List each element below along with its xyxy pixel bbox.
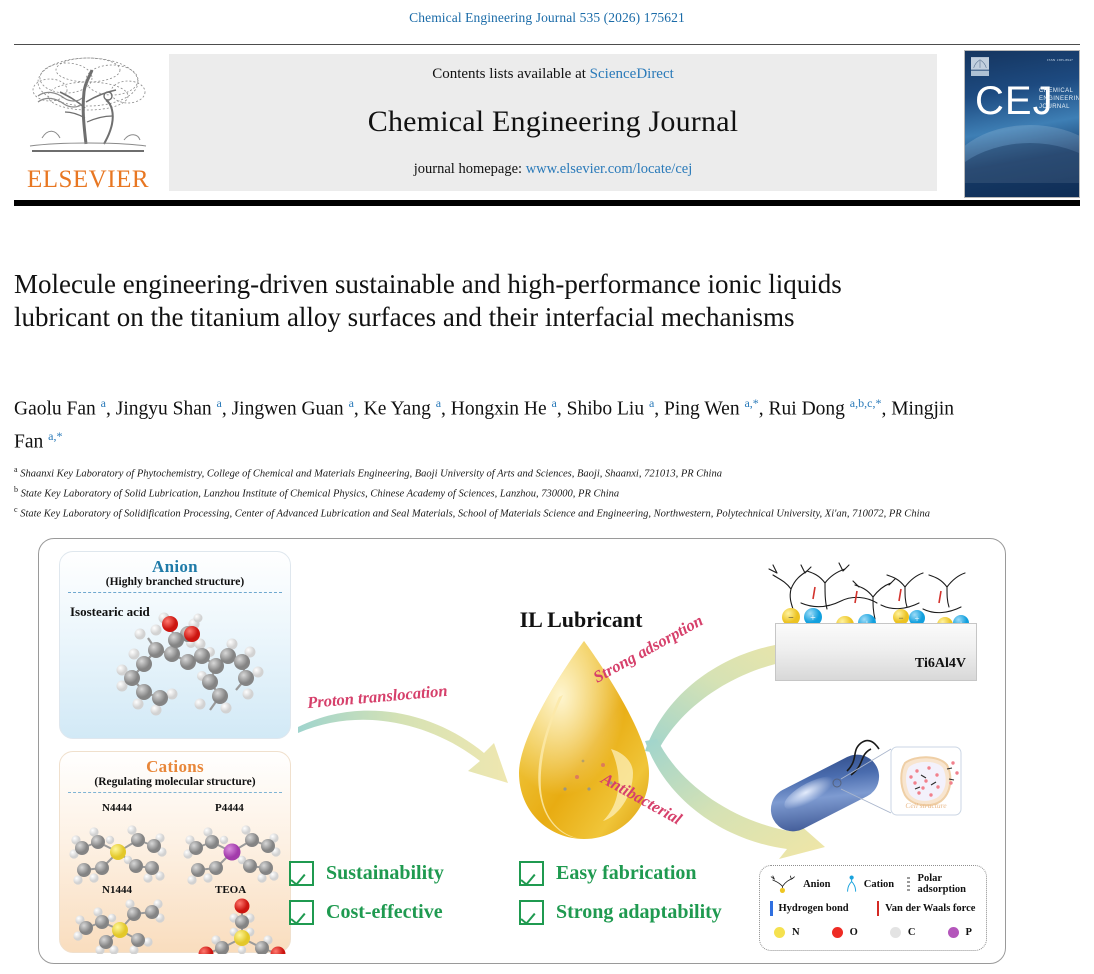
anion-subheading: (Highly branched structure) [60, 576, 290, 588]
feature-item-easy-fabrication: Easy fabrication [519, 861, 749, 886]
anion-glyph-icon [768, 873, 800, 895]
author-affiliation-mark: a [649, 396, 654, 410]
elsevier-wordmark: ELSEVIER [27, 166, 149, 194]
cation-molecules-icon [60, 814, 292, 954]
legend-polar-adsorption-label: Polar adsorption [918, 873, 978, 895]
legend-atom-p: P [948, 927, 972, 938]
contents-prefix: Contents lists available at [432, 66, 589, 82]
affiliation-mark: b [14, 485, 18, 494]
cover-word-journal: JOURNAL [1039, 103, 1080, 111]
feature-item-strong-adaptability: Strong adaptability [519, 900, 749, 925]
author-name: Ke Yang [364, 399, 436, 420]
feature-label: Sustainability [326, 862, 444, 885]
author-affiliation-mark: a [101, 396, 106, 410]
cover-word-chemical: CHEMICAL [1039, 87, 1080, 95]
il-lubricant-title: IL Lubricant [471, 607, 691, 633]
anion-panel: Anion (Highly branched structure) Isoste… [59, 551, 291, 739]
masthead-top-rule [14, 44, 1080, 45]
legend-row-forces: Hydrogen bond Van der Waals force [768, 896, 978, 920]
anion-divider [68, 592, 282, 593]
ti6al4v-surface-panel: − + − + − + − + + + + [755, 557, 983, 685]
legend-row-species: Anion Cation Polar adsorption [768, 872, 978, 896]
journal-masthead: ELSEVIER Contents lists available at Sci… [14, 44, 1080, 206]
legend-atom-label: O [850, 927, 858, 938]
homepage-prefix: journal homepage: [414, 161, 526, 177]
affiliation-entry: a Shaanxi Key Laboratory of Phytochemist… [14, 462, 944, 482]
hydrogen-bond-glyph-icon [770, 901, 773, 916]
cation-label-p4444: P4444 [215, 802, 244, 814]
feature-label: Strong adaptability [556, 901, 722, 924]
legend-atom-label: C [908, 927, 916, 938]
cation-label-n4444: N4444 [102, 802, 132, 814]
legend-van-der-waals-label: Van der Waals force [885, 903, 975, 914]
isostearic-acid-molecule-icon [60, 610, 292, 738]
journal-title: Chemical Engineering Journal [368, 105, 739, 139]
masthead-bottom-rule [14, 200, 1080, 206]
author-affiliation-mark: a [552, 396, 557, 410]
ti6al4v-label: Ti6Al4V [915, 656, 966, 672]
cations-subheading: (Regulating molecular structure) [60, 776, 290, 788]
contents-available-line: Contents lists available at ScienceDirec… [432, 66, 674, 83]
graphical-abstract-legend: Anion Cation Polar adsorption Hydrogen b… [759, 865, 987, 951]
legend-atom-label: N [792, 927, 800, 938]
affiliation-entry: c State Key Laboratory of Solidification… [14, 502, 944, 522]
bacteria-panel: Cell structure [755, 735, 995, 845]
affiliation-list: a Shaanxi Key Laboratory of Phytochemist… [14, 462, 944, 522]
legend-atom-n: N [774, 927, 800, 938]
legend-anion-label: Anion [803, 879, 830, 890]
legend-atom-o: O [832, 927, 858, 938]
affiliation-mark: c [14, 505, 18, 514]
author-name: Ping Wen [664, 399, 744, 420]
cations-panel: Cations (Regulating molecular structure)… [59, 751, 291, 953]
author-affiliation-mark: a [436, 396, 441, 410]
van-der-waals-glyph-icon [877, 901, 880, 916]
author-name: Hongxin He [451, 399, 552, 420]
author-name: Rui Dong [769, 399, 850, 420]
checkbox-checked-icon [289, 861, 314, 886]
feature-item-sustainability: Sustainability [289, 861, 519, 886]
elsevier-tree-icon [20, 52, 156, 164]
journal-cover-thumbnail[interactable]: ISSN 1385-8947 CEJ CHEMICAL ENGINEERING … [964, 50, 1080, 198]
running-head: Chemical Engineering Journal 535 (2026) … [0, 10, 1094, 26]
atom-color-swatch-n [774, 927, 785, 938]
journal-homepage-line: journal homepage: www.elsevier.com/locat… [414, 161, 692, 178]
contents-banner: Contents lists available at ScienceDirec… [169, 54, 937, 191]
legend-atom-label: P [966, 927, 972, 938]
cations-divider [68, 792, 282, 793]
cell-structure-label: Cell structure [905, 801, 947, 810]
affiliation-entry: b State Key Laboratory of Solid Lubricat… [14, 482, 944, 502]
graphical-abstract: Anion (Highly branched structure) Isoste… [38, 538, 1006, 964]
anion-heading: Anion [60, 552, 290, 577]
legend-cation-label: Cation [864, 879, 894, 890]
author-affiliation-mark: a,b,c,* [850, 396, 882, 410]
svg-text:−: − [898, 613, 903, 623]
author-affiliation-mark: a,* [48, 429, 62, 443]
feature-item-cost-effective: Cost-effective [289, 900, 519, 925]
feature-label: Cost-effective [326, 901, 443, 924]
cover-journal-words: CHEMICAL ENGINEERING JOURNAL [1039, 87, 1080, 111]
author-name: Gaolu Fan [14, 399, 101, 420]
legend-hydrogen-bond-label: Hydrogen bond [779, 903, 849, 914]
author-affiliation-mark: a [217, 396, 222, 410]
polar-adsorption-glyph-icon [907, 877, 909, 892]
atom-color-swatch-p [948, 927, 959, 938]
checkbox-checked-icon [289, 900, 314, 925]
feature-checklist: Sustainability Easy fabrication Cost-eff… [289, 861, 749, 925]
feature-label: Easy fabrication [556, 862, 697, 885]
legend-atom-c: C [890, 927, 916, 938]
atom-color-swatch-o [832, 927, 843, 938]
author-affiliation-mark: a,* [744, 396, 758, 410]
elsevier-logo: ELSEVIER [14, 52, 162, 192]
author-name: Shibo Liu [567, 399, 649, 420]
article-title: Molecule engineering-driven sustainable … [14, 268, 894, 334]
checkbox-checked-icon [519, 861, 544, 886]
affiliation-mark: a [14, 465, 18, 474]
cover-word-engineering: ENGINEERING [1039, 95, 1080, 103]
proton-translocation-arrow-icon [294, 699, 524, 809]
legend-row-atoms: N O C P [768, 920, 978, 944]
journal-homepage-link[interactable]: www.elsevier.com/locate/cej [526, 161, 693, 177]
author-name: Jingyu Shan [116, 399, 217, 420]
cations-heading: Cations [60, 752, 290, 777]
author-affiliation-mark: a [349, 396, 354, 410]
checkbox-checked-icon [519, 900, 544, 925]
bacterium-with-inset-icon: Cell structure [755, 735, 995, 845]
atom-color-swatch-c [890, 927, 901, 938]
cover-elsevier-icon [971, 57, 989, 77]
author-name: Jingwen Guan [232, 399, 349, 420]
ti6al4v-substrate: Ti6Al4V [775, 623, 977, 681]
sciencedirect-link[interactable]: ScienceDirect [590, 66, 674, 82]
cover-issn: ISSN 1385-8947 [1047, 58, 1073, 62]
author-list: Gaolu Fan a, Jingyu Shan a, Jingwen Guan… [14, 390, 974, 455]
cation-glyph-icon [842, 873, 861, 895]
